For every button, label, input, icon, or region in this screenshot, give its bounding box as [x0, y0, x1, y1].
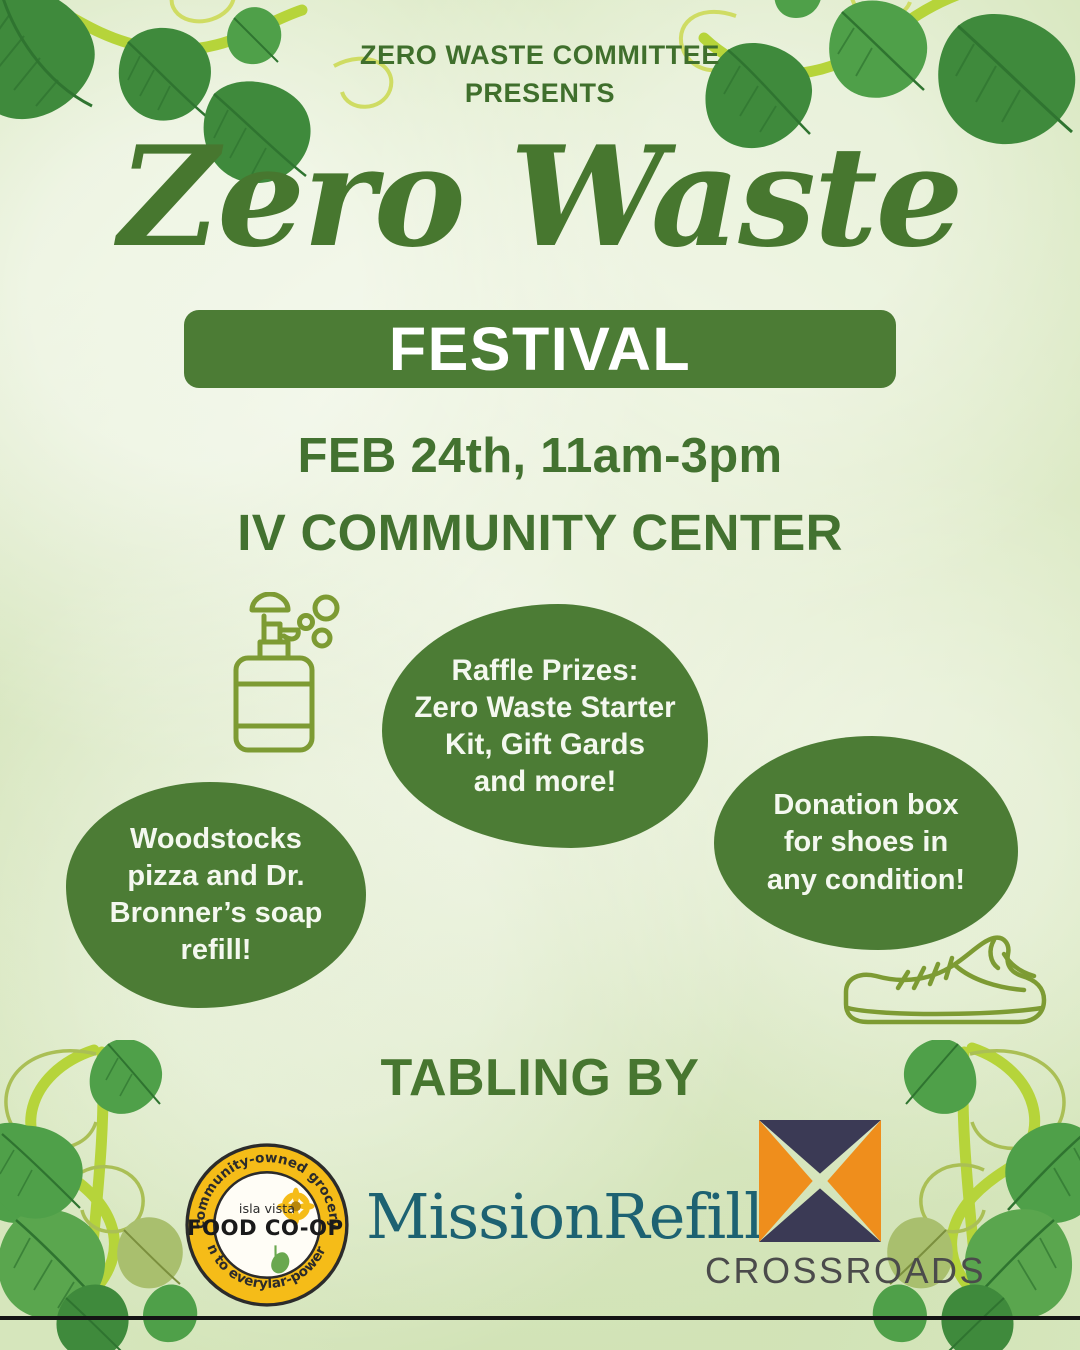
- raffle-line-3: Kit, Gift Gards: [445, 728, 645, 761]
- food-line-4: refill!: [181, 934, 252, 966]
- raffle-line-4: and more!: [474, 765, 617, 798]
- raffle-prizes-callout: Raffle Prizes: Zero Waste Starter Kit, G…: [382, 604, 708, 848]
- tabling-by-heading: TABLING BY: [0, 1048, 1080, 1108]
- food-callout: Woodstocks pizza and Dr. Bronner’s soap …: [66, 782, 366, 1008]
- donation-line-3: any condition!: [767, 864, 965, 896]
- crossroads-label: CROSSROADS: [705, 1250, 935, 1292]
- raffle-line-1: Raffle Prizes:: [452, 654, 639, 687]
- food-line-1: Woodstocks: [130, 823, 302, 855]
- festival-banner: FESTIVAL: [184, 310, 896, 388]
- raffle-line-2: Zero Waste Starter: [414, 691, 675, 724]
- crossroads-logo: CROSSROADS: [705, 1120, 935, 1292]
- donation-callout: Donation box for shoes in any condition!: [714, 736, 1018, 950]
- coop-center-small: isla vista: [239, 1202, 295, 1217]
- soap-dispenser-icon: [222, 592, 342, 762]
- mission-refill-logo: MissionRefill: [366, 1180, 736, 1253]
- coop-center-big: FOOD CO-OP: [187, 1216, 343, 1241]
- page-title: Zero Waste: [0, 128, 1080, 266]
- crossroads-x-mark: [759, 1120, 881, 1242]
- donation-line-1: Donation box: [773, 789, 958, 821]
- food-line-3: Bronner’s soap: [110, 897, 323, 929]
- iv-food-coop-logo: community-owned grocery open to everyone…: [182, 1140, 352, 1310]
- presenter-heading: ZERO WASTE COMMITTEE PRESENTS: [0, 36, 1080, 113]
- festival-label: FESTIVAL: [389, 314, 691, 384]
- zero-waste-festival-poster: ZERO WASTE COMMITTEE PRESENTS Zero Waste…: [0, 0, 1080, 1350]
- presenter-line-2: PRESENTS: [0, 74, 1080, 112]
- event-venue: IV COMMUNITY CENTER: [0, 503, 1080, 562]
- bottom-divider: [0, 1316, 1080, 1320]
- event-datetime: FEB 24th, 11am-3pm: [0, 428, 1080, 484]
- food-line-2: pizza and Dr.: [127, 860, 304, 892]
- donation-line-2: for shoes in: [784, 826, 948, 858]
- presenter-line-1: ZERO WASTE COMMITTEE: [0, 36, 1080, 74]
- sponsor-logo-row: community-owned grocery open to everyone…: [0, 1120, 1080, 1330]
